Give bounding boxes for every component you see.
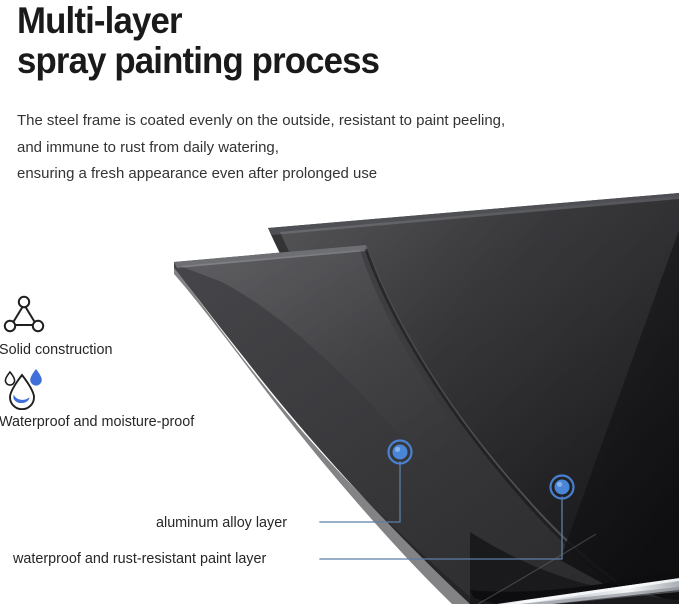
- callout-label-waterproof-paint-layer: waterproof and rust-resistant paint laye…: [13, 551, 266, 568]
- header-block: Multi-layer spray painting process The s…: [0, 0, 679, 190]
- page-description: The steel frame is coated evenly on the …: [17, 108, 657, 188]
- feature-label-solid-construction: Solid construction: [0, 342, 112, 359]
- callout-label-aluminum-alloy-layer: aluminum alloy layer: [156, 515, 287, 532]
- triangle-nodes-icon: [2, 292, 46, 341]
- feature-label-waterproof: Waterproof and moisture-proof: [0, 414, 194, 431]
- page-title: Multi-layer spray painting process: [17, 1, 619, 81]
- water-droplet-icon: [2, 366, 50, 415]
